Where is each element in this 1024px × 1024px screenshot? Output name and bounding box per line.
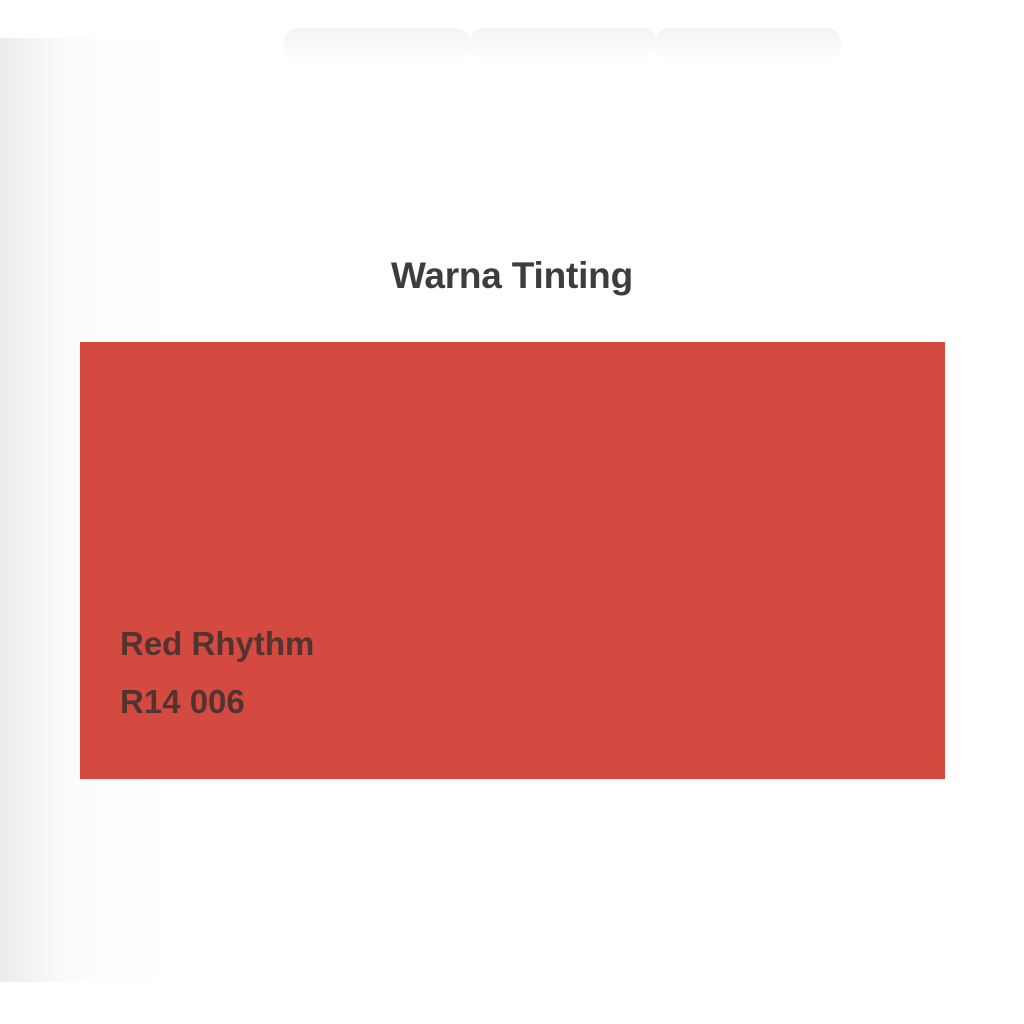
page-title: Warna Tinting [0, 252, 1024, 300]
page-surface: Warna Tinting Red Rhythm R14 006 [0, 38, 1024, 982]
screenshot-canvas: Warna Tinting Red Rhythm R14 006 [0, 0, 1024, 1024]
color-name: Red Rhythm [120, 615, 720, 673]
partially-cropped-card-2[interactable] [470, 28, 656, 62]
partially-cropped-card-1[interactable] [284, 28, 470, 62]
partially-cropped-card-3[interactable] [655, 28, 841, 62]
color-swatch-caption: Red Rhythm R14 006 [120, 615, 720, 731]
color-code: R14 006 [120, 673, 720, 731]
color-swatch-card[interactable]: Red Rhythm R14 006 [80, 342, 945, 779]
